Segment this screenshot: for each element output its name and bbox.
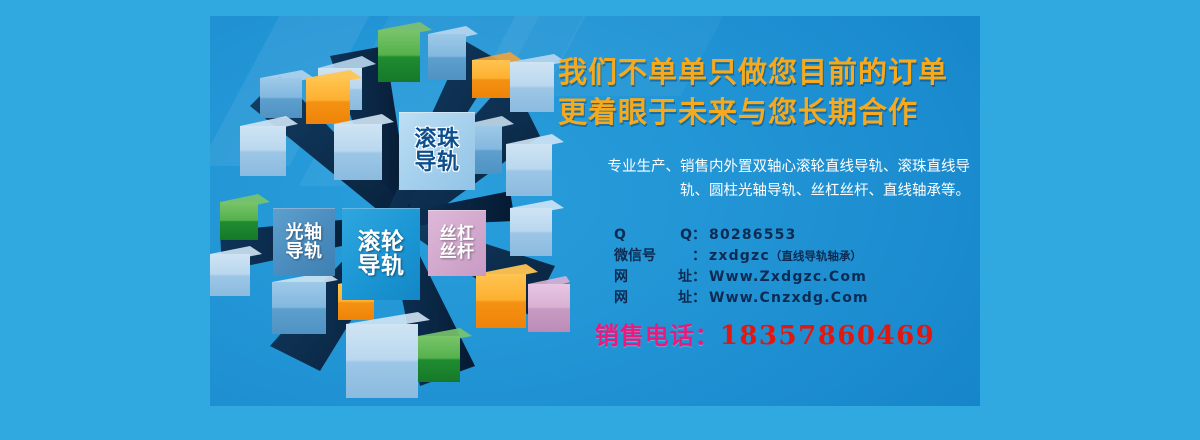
cube-label-line2: 导轨	[358, 255, 405, 279]
cube-label-sigang-sigan: 丝杠 丝杆	[428, 210, 486, 276]
promotional-banner: 滚珠 导轨 滚轮 导轨 光轴 导轨 丝杠 丝杆 我们不单单只做您目前的订单 更着…	[210, 16, 980, 406]
cube-label-gunzhu-daogui: 滚珠 导轨	[399, 112, 475, 190]
cube-label-line1: 光轴	[286, 224, 323, 243]
contact-row-website-1: 网 址 ： Www.Zxdgzc.Com	[614, 266, 869, 287]
headline: 我们不单单只做您目前的订单 更着眼于未来与您长期合作	[558, 52, 948, 132]
cube-label-line2: 丝杆	[440, 244, 475, 262]
headline-line-2: 更着眼于未来与您长期合作	[558, 92, 948, 132]
contact-label: 网 址	[614, 287, 692, 307]
sales-phone-label: 销售电话：	[595, 322, 720, 350]
contact-value-qq: 80286553	[709, 227, 797, 243]
contact-value-website-2[interactable]: Www.Cnzxdg.Com	[709, 290, 869, 306]
contact-colon: ：	[692, 266, 706, 286]
contact-colon: ：	[692, 224, 706, 244]
contact-note-wechat: （直线导轨轴承）	[770, 248, 862, 264]
banner-text-content: 我们不单单只做您目前的订单 更着眼于未来与您长期合作 专业生产、销售内外置双轴心…	[550, 16, 980, 406]
contact-row-qq: Q Q ： 80286553	[614, 224, 869, 245]
contact-value-website-1[interactable]: Www.Zxdgzc.Com	[709, 269, 867, 285]
contact-info-list: Q Q ： 80286553 微信号 ： zxdgzc （直线导轨轴承）	[614, 224, 869, 308]
cube-label-line2: 导轨	[414, 152, 459, 175]
cube-label-line2: 导轨	[286, 243, 323, 262]
cube-label-line1: 丝杠	[440, 226, 475, 244]
page-root: 滚珠 导轨 滚轮 导轨 光轴 导轨 丝杠 丝杆 我们不单单只做您目前的订单 更着…	[0, 0, 1200, 440]
cube-label-gunlun-daogui: 滚轮 导轨	[342, 208, 420, 300]
contact-value-wechat: zxdgzc	[709, 248, 770, 264]
cube-label-line1: 滚珠	[414, 129, 459, 152]
company-description: 专业生产、销售内外置双轴心滚轮直线导轨、滚珠直线导轨、圆柱光轴导轨、丝杠丝杆、直…	[598, 156, 970, 204]
cube-label-guangzhou-daogui: 光轴 导轨	[273, 208, 335, 276]
contact-colon: ：	[692, 287, 706, 307]
headline-line-1: 我们不单单只做您目前的订单	[558, 52, 948, 92]
contact-row-website-2: 网 址 ： Www.Cnzxdg.Com	[614, 287, 869, 308]
cube-label-line1: 滚轮	[358, 231, 405, 255]
contact-label: 微信号	[614, 245, 692, 265]
sales-phone: 销售电话：18357860469	[550, 316, 980, 351]
contact-label: 网 址	[614, 266, 692, 286]
sales-phone-number: 18357860469	[720, 321, 936, 351]
contact-label: Q Q	[614, 227, 692, 243]
contact-row-wechat: 微信号 ： zxdgzc （直线导轨轴承）	[614, 245, 869, 266]
contact-colon: ：	[692, 245, 706, 265]
